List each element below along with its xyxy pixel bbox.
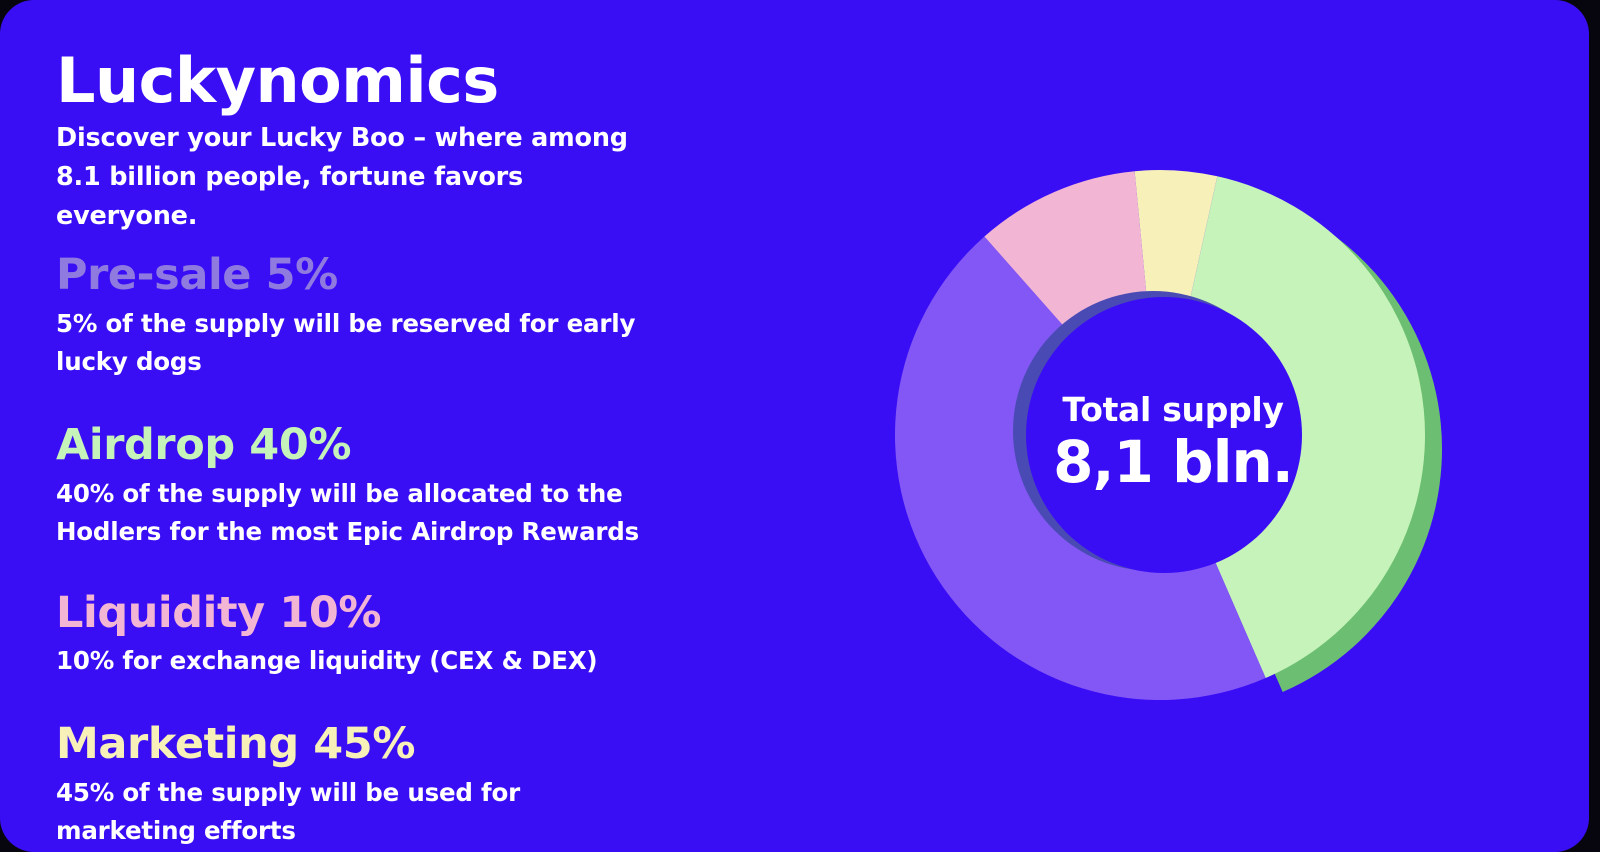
section-airdrop-heading: Airdrop 40% bbox=[56, 419, 716, 473]
donut-svg bbox=[880, 150, 1460, 730]
section-airdrop: Airdrop 40% 40% of the supply will be al… bbox=[56, 419, 716, 551]
content-panel: Luckynomics Discover your Lucky Boo – wh… bbox=[0, 0, 1589, 852]
section-presale-heading: Pre-sale 5% bbox=[56, 249, 716, 303]
tokenomics-text-column: Luckynomics Discover your Lucky Boo – wh… bbox=[56, 48, 716, 852]
section-liquidity: Liquidity 10% 10% for exchange liquidity… bbox=[56, 587, 716, 681]
section-presale: Pre-sale 5% 5% of the supply will be res… bbox=[56, 249, 716, 381]
section-presale-body: 5% of the supply will be reserved for ea… bbox=[56, 305, 666, 381]
section-airdrop-body: 40% of the supply will be allocated to t… bbox=[56, 475, 666, 551]
page-title: Luckynomics bbox=[56, 48, 716, 113]
section-marketing-heading: Marketing 45% bbox=[56, 718, 716, 772]
section-liquidity-heading: Liquidity 10% bbox=[56, 587, 716, 641]
section-marketing-body: 45% of the supply will be used for marke… bbox=[56, 774, 666, 850]
page-subtitle: Discover your Lucky Boo – where among 8.… bbox=[56, 119, 656, 235]
donut-hole bbox=[1026, 297, 1302, 573]
supply-distribution-donut-chart: Total supply 8,1 bln. bbox=[880, 150, 1460, 730]
slide-root: Luckynomics Discover your Lucky Boo – wh… bbox=[0, 0, 1600, 852]
section-liquidity-body: 10% for exchange liquidity (CEX & DEX) bbox=[56, 642, 666, 680]
section-marketing: Marketing 45% 45% of the supply will be … bbox=[56, 718, 716, 850]
